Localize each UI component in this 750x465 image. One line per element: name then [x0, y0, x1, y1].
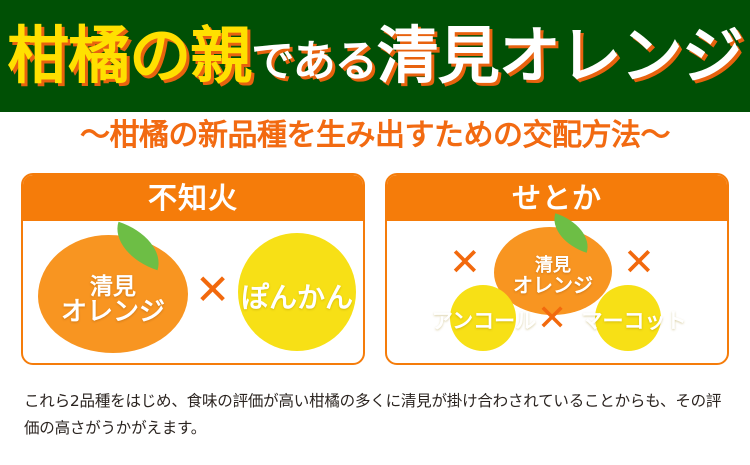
fruit-label-encore: アンコール	[423, 305, 545, 335]
header-banner: 柑橘の親 である 清見 オレンジ	[0, 0, 750, 112]
fruit-label-kiyomi-left: 清見 オレンジ	[61, 276, 165, 326]
subtitle: 〜柑橘の新品種を生み出すための交配方法〜	[0, 118, 750, 154]
cross-icon-setoka-middle: ✕	[537, 301, 567, 337]
header-title: 柑橘の親 である 清見 オレンジ	[0, 0, 750, 112]
cross-icon-setoka-left: ✕	[449, 243, 481, 281]
card-setoka: せとか 清見 オレンジ ✕ ✕ アンコール ✕ マーコット	[385, 173, 729, 365]
card-shiranui-body: 清見 オレンジ ✕ ぽんかん	[23, 221, 363, 363]
fruit-kiyomi-orange-left: 清見 オレンジ	[38, 235, 188, 353]
card-shiranui: 不知火 清見 オレンジ ✕ ぽんかん	[21, 173, 365, 365]
fruit-label-line1: 清見	[61, 276, 165, 299]
header-title-part-1: 柑橘の親	[7, 25, 251, 87]
fruit-label-line2: オレンジ	[513, 275, 593, 295]
fruit-label-kiyomi-right: 清見 オレンジ	[513, 257, 593, 296]
cross-icon-setoka-right: ✕	[623, 243, 655, 281]
card-setoka-body: 清見 オレンジ ✕ ✕ アンコール ✕ マーコット	[387, 221, 727, 363]
description-paragraph: これら2品種をはじめ、食味の評価が高い柑橘の多くに清見が掛け合わされていることか…	[24, 388, 730, 442]
leaf-icon	[108, 222, 168, 270]
fruit-label-line2: オレンジ	[61, 299, 165, 326]
cross-icon-shiranui: ✕	[195, 269, 230, 311]
fruit-label-ponkan: ぽんかん	[230, 276, 364, 316]
cards-container: 不知火 清見 オレンジ ✕ ぽんかん せとか 清	[0, 173, 750, 369]
header-title-part-3: 清見	[377, 25, 499, 87]
header-title-part-4: オレンジ	[499, 25, 743, 87]
header-title-part-2: である	[251, 41, 377, 84]
fruit-label-murcott: マーコット	[573, 305, 695, 335]
card-shiranui-title: 不知火	[23, 175, 363, 221]
